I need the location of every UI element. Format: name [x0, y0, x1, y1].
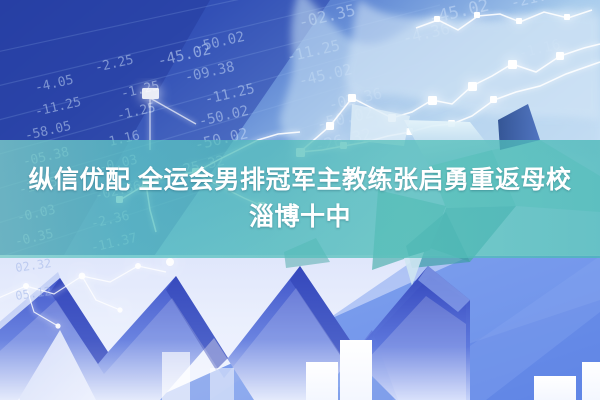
headline-line-2: 淄博十中 [249, 202, 351, 233]
headline: 纵信优配 全运会男排冠军主教练张启勇重返母校 淄博十中 [0, 140, 600, 258]
news-banner: -45.02 -02.35 -45.02 -21.46 -50.02 -11.2… [0, 0, 600, 400]
headline-line-1: 纵信优配 全运会男排冠军主教练张启勇重返母校 [21, 165, 580, 196]
